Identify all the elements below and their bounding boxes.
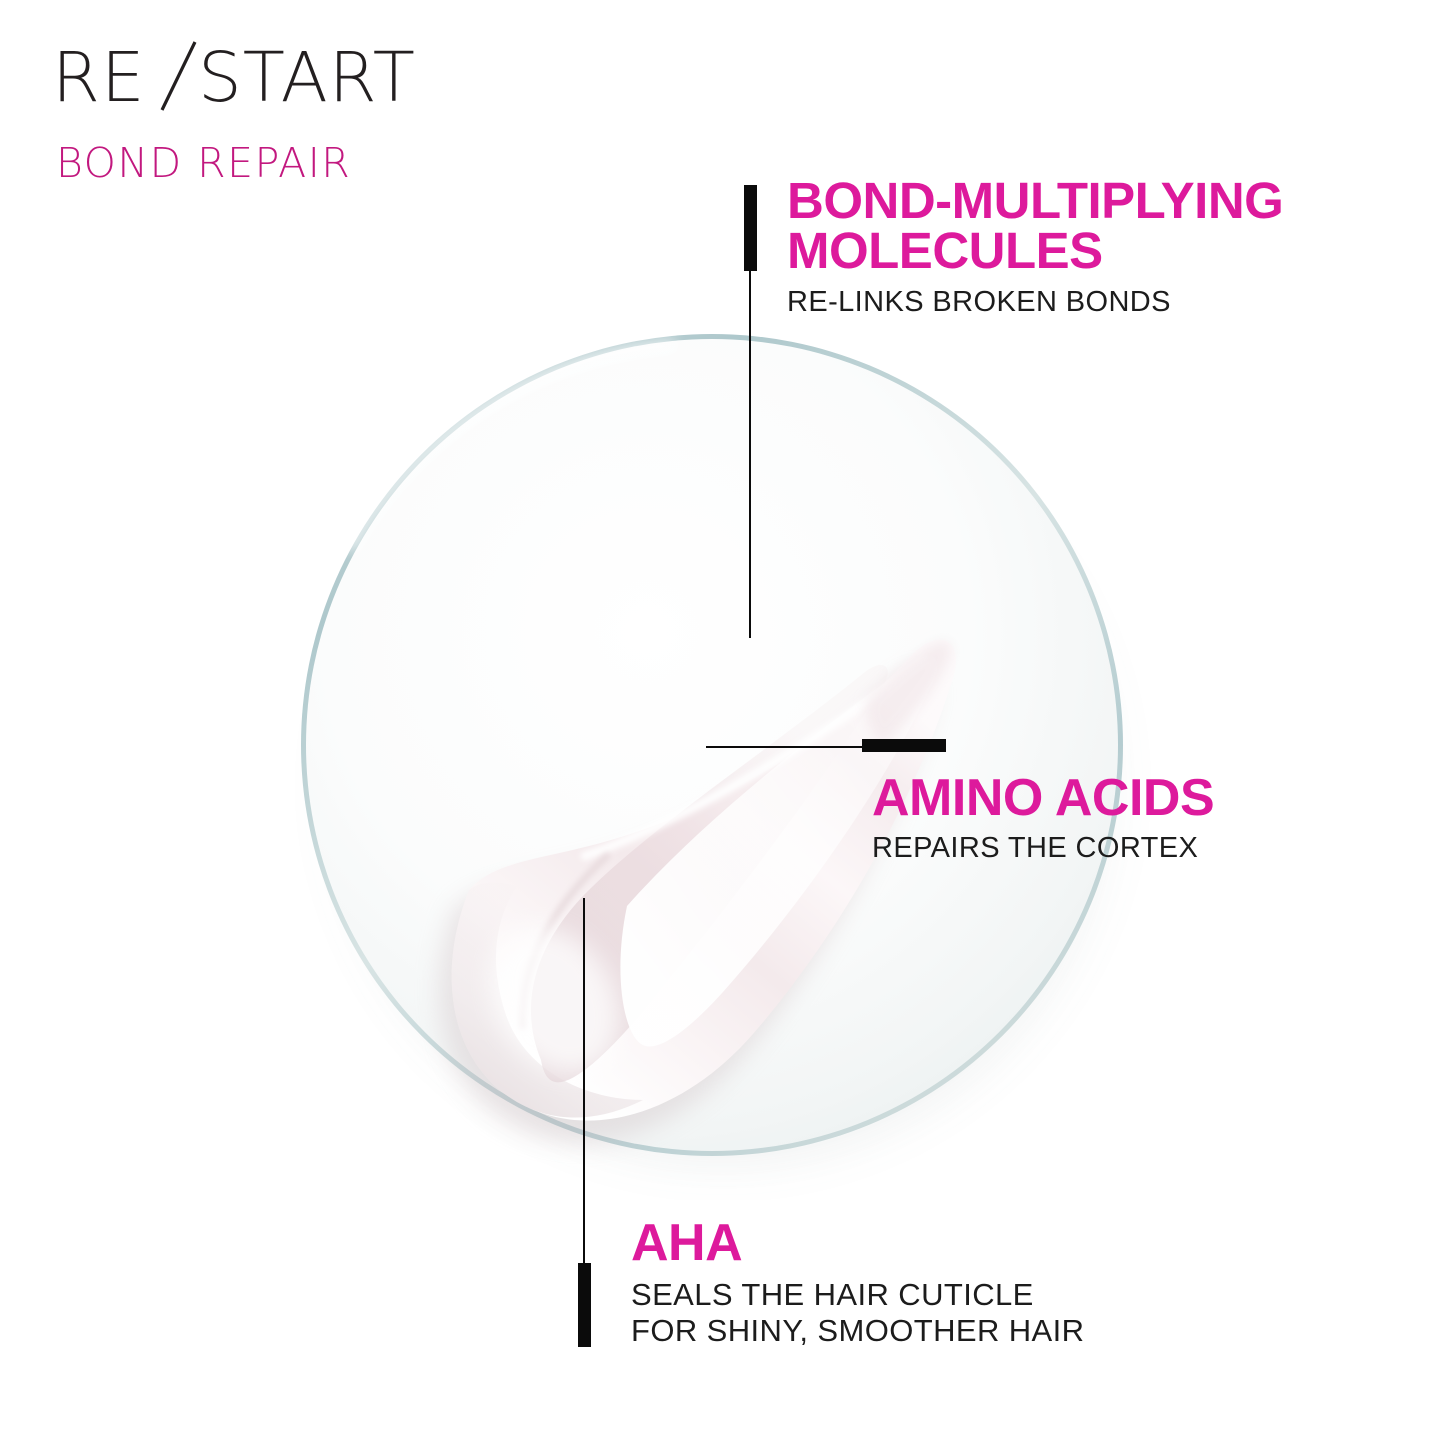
- product-infographic: RE START BOND REPAIR: [0, 0, 1445, 1445]
- wordmark-start: START: [198, 38, 416, 118]
- callout-aha: AHA SEALS THE HAIR CUTICLE FOR SHINY, SM…: [631, 1217, 1251, 1349]
- amino-leader-thick-bar: [862, 739, 946, 752]
- callout-aha-title-line-1: AHA: [631, 1217, 1251, 1269]
- callout-bond-multiplying-molecules: BOND-MULTIPLYING MOLECULES RE-LINKS BROK…: [787, 176, 1387, 320]
- callout-aha-subtitle: SEALS THE HAIR CUTICLE FOR SHINY, SMOOTH…: [631, 1277, 1251, 1349]
- wordmark-slash-icon: [162, 42, 195, 110]
- callout-bond-title: BOND-MULTIPLYING MOLECULES: [787, 176, 1387, 276]
- brand-wordmark: RE START: [52, 38, 472, 120]
- amino-leader-line: [706, 746, 864, 748]
- callout-amino-subtitle: REPAIRS THE CORTEX: [872, 832, 1445, 866]
- brand-tagline: BOND REPAIR: [56, 140, 476, 188]
- callout-bond-title-line-2: MOLECULES: [787, 226, 1387, 276]
- bond-leader-line: [749, 270, 751, 638]
- brand-logo: RE START BOND REPAIR: [52, 38, 472, 188]
- callout-bond-subtitle: RE-LINKS BROKEN BONDS: [787, 286, 1387, 320]
- callout-aha-subtitle-line-2: FOR SHINY, SMOOTHER HAIR: [631, 1313, 1251, 1349]
- wordmark-re: RE: [52, 38, 146, 118]
- callout-bond-title-line-1: BOND-MULTIPLYING: [787, 176, 1387, 226]
- callout-amino-acids: AMINO ACIDS REPAIRS THE CORTEX: [872, 772, 1445, 866]
- bond-leader-thick-bar: [744, 185, 757, 271]
- brand-tagline-svg: BOND REPAIR: [56, 140, 476, 188]
- petri-dish-svg: [255, 300, 1170, 1200]
- aha-leader-thick-bar: [578, 1263, 591, 1347]
- callout-amino-title-line-1: AMINO ACIDS: [872, 772, 1445, 824]
- brand-wordmark-svg: RE START: [52, 38, 472, 120]
- aha-leader-line: [583, 898, 585, 1266]
- callout-aha-subtitle-line-1: SEALS THE HAIR CUTICLE: [631, 1277, 1251, 1313]
- brand-tagline-label: BOND REPAIR: [56, 140, 351, 187]
- callout-amino-title: AMINO ACIDS: [872, 772, 1445, 824]
- petri-dish-image: [255, 300, 1170, 1200]
- callout-aha-title: AHA: [631, 1217, 1251, 1269]
